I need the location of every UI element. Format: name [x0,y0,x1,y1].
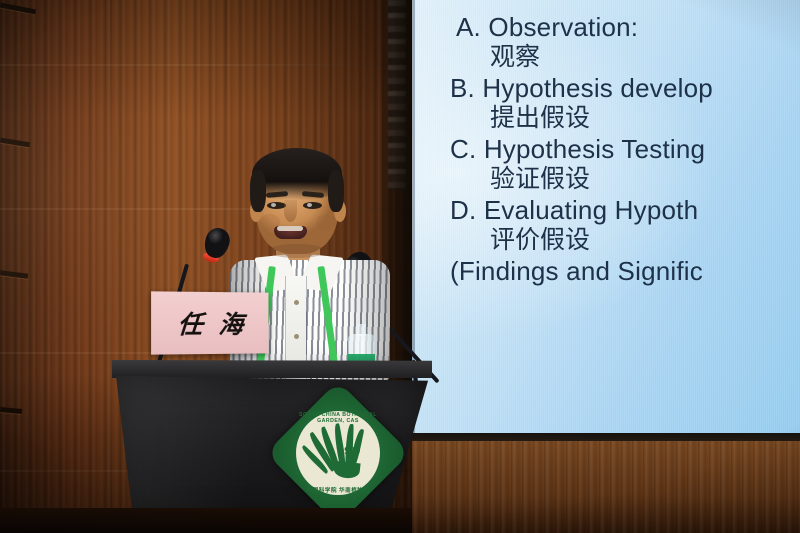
botanical-garden-emblem: 1929 SOUTH CHINA BOTANICAL GARDEN, CAS 中… [266,381,410,525]
hair-side-left [250,170,266,212]
eye-right [303,202,322,209]
name-placard: 任 海 [151,291,268,354]
slide-text-block: A. Observation: 观察 B. Hypothesis develop… [450,14,800,289]
cheek-right [316,214,336,230]
floor [0,508,412,533]
emblem-inner: 1929 SOUTH CHINA BOTANICAL GARDEN, CAS 中… [287,402,389,504]
slide-line-c-en: C. Hypothesis Testing [450,136,800,162]
shirt-button [294,300,299,305]
slide-line-e-en: (Findings and Signific [450,258,800,284]
slide-line-a-cn: 观察 [450,45,800,70]
slide-line-b-cn: 提出假设 [450,106,800,131]
slide-line-b-en: B. Hypothesis develop [450,75,800,101]
placard-name-first: 任 [177,305,205,341]
projection-screen: A. Observation: 观察 B. Hypothesis develop… [412,0,800,434]
eye-glint-left [271,203,276,207]
slide-line-a-en: A. Observation: [450,14,800,40]
slide-line-d-en: D. Evaluating Hypoth [450,197,800,223]
podium-top-lip [112,360,432,378]
lower-wood-wall [412,441,800,533]
chin-shadow [268,244,326,258]
placard-name-second: 海 [218,305,245,341]
emblem-year: 1929 [339,446,361,457]
shirt-button [294,334,299,339]
emblem-arc-top: SOUTH CHINA BOTANICAL GARDEN, CAS [287,412,389,424]
slide-line-c-cn: 验证假设 [450,167,800,192]
hair-side-right [328,170,344,212]
photo-scene: A. Observation: 观察 B. Hypothesis develop… [0,0,800,533]
emblem-arc-bottom: 中国科学院 华南植物园 [287,486,389,494]
slide-line-d-cn: 评价假设 [450,228,800,253]
eye-glint-right [307,203,312,207]
nose [284,200,297,222]
teeth [277,226,303,231]
